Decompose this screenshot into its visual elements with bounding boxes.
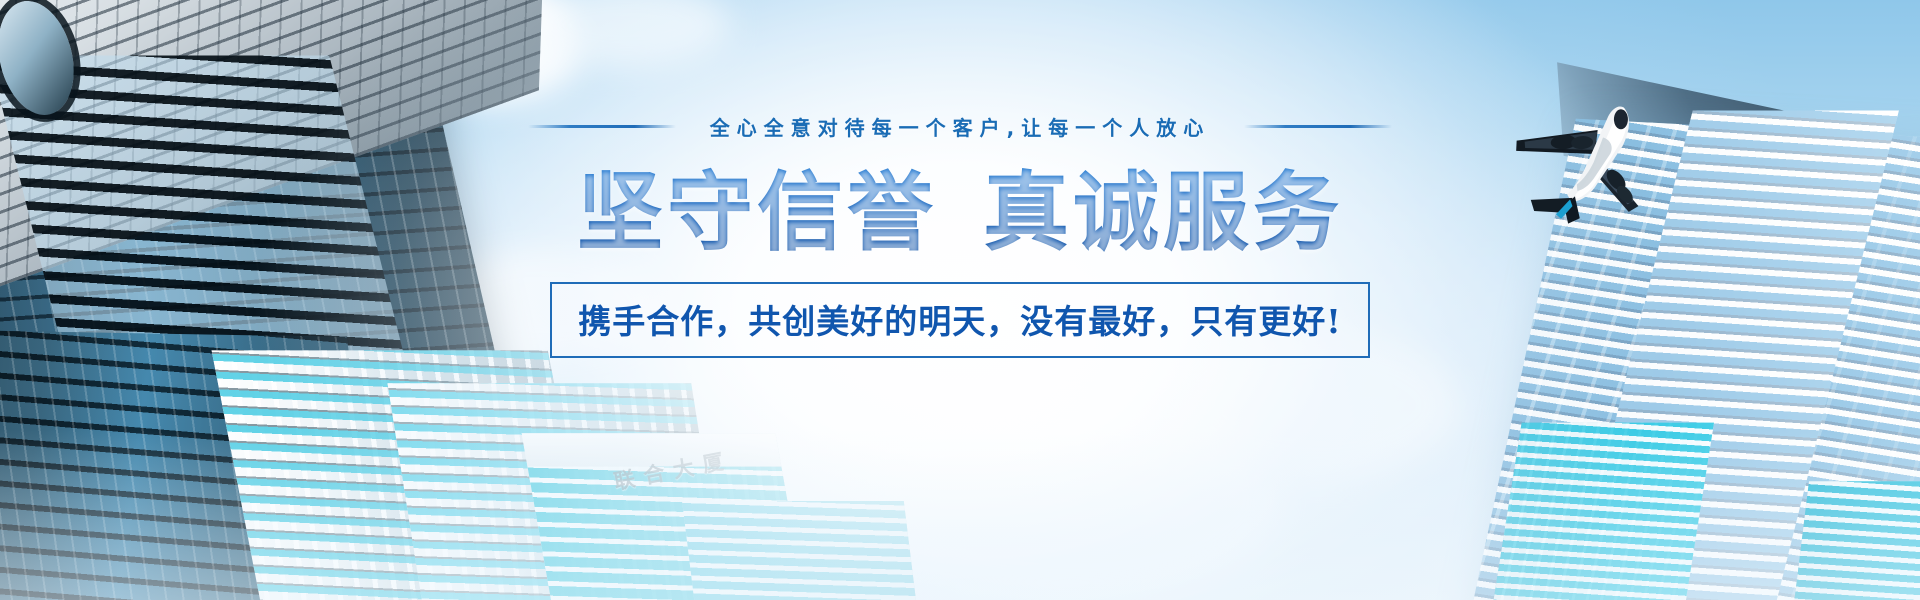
banner-tagline: 全心全意对待每一个客户,让每一个人放心 bbox=[710, 112, 1211, 141]
headline-part-2: 真诚服务 bbox=[983, 162, 1343, 263]
decorative-rule-left bbox=[528, 125, 676, 128]
banner-content: 全心全意对待每一个客户,让每一个人放心 坚守信誉真诚服务 携手合作，共创美好的明… bbox=[0, 0, 1920, 358]
building-window-grid bbox=[1790, 481, 1920, 600]
hero-banner: 联合大厦 bbox=[0, 0, 1920, 600]
subtitle-box: 携手合作，共创美好的明天，没有最好，只有更好! bbox=[550, 282, 1370, 358]
decorative-rule-right bbox=[1244, 125, 1392, 128]
building-window-grid bbox=[682, 501, 921, 600]
building-window-grid bbox=[1489, 423, 1714, 600]
tagline-row: 全心全意对待每一个客户,让每一个人放心 bbox=[0, 112, 1920, 141]
tower-right-small bbox=[1489, 423, 1714, 600]
tower-far-a bbox=[682, 501, 921, 600]
banner-subtitle: 携手合作，共创美好的明天，没有最好，只有更好! bbox=[578, 302, 1342, 341]
banner-headline: 坚守信誉真诚服务 bbox=[0, 167, 1920, 258]
tower-right-far bbox=[1790, 481, 1920, 600]
headline-part-1: 坚守信誉 bbox=[577, 162, 937, 263]
